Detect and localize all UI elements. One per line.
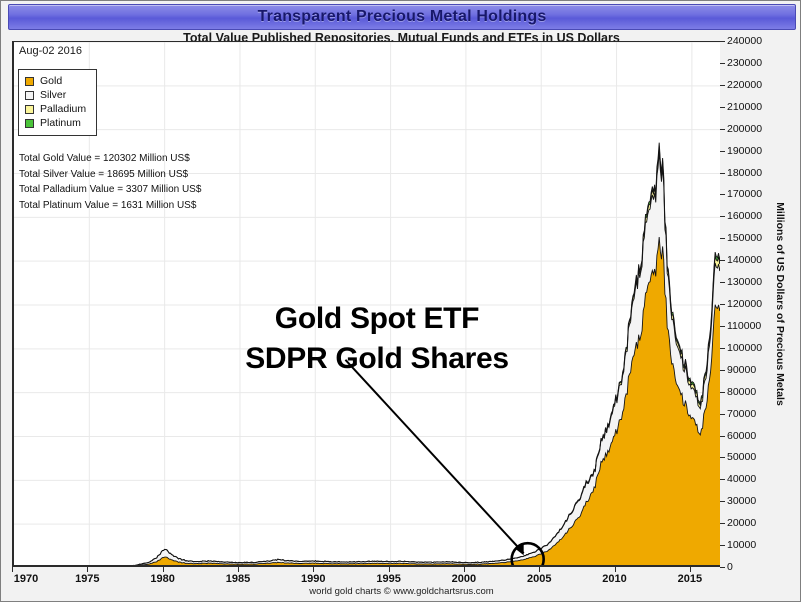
y-tick-label: 240000	[720, 35, 762, 47]
legend-item-silver: Silver	[25, 88, 86, 102]
y-tick-label: 20000	[720, 517, 756, 529]
y-tick-label: 200000	[720, 123, 762, 135]
x-tick-mark	[313, 567, 314, 572]
x-tick-label: 1995	[376, 573, 400, 585]
legend-item-label: Platinum	[40, 117, 81, 129]
y-tick-label: 70000	[720, 408, 756, 420]
total-value-line: Total Palladium Value = 3307 Million US$	[19, 182, 201, 198]
x-tick-label: 1975	[75, 573, 99, 585]
y-tick-label: 130000	[720, 276, 762, 288]
y-tick-label: 30000	[720, 495, 756, 507]
x-tick-mark	[238, 567, 239, 572]
total-value-line: Total Silver Value = 18695 Million US$	[19, 167, 201, 183]
legend-swatch-icon	[25, 91, 34, 100]
x-tick-label: 2000	[452, 573, 476, 585]
y-tick-label: 220000	[720, 79, 762, 91]
legend-item-label: Gold	[40, 75, 62, 87]
date-stamp: Aug-02 2016	[19, 45, 82, 57]
y-tick-label: 160000	[720, 210, 762, 222]
window-title: Transparent Precious Metal Holdings	[258, 8, 547, 26]
y-tick-label: 120000	[720, 298, 762, 310]
y-axis: 0100002000030000400005000060000700008000…	[720, 41, 768, 567]
legend-swatch-icon	[25, 77, 34, 86]
x-tick-mark	[539, 567, 540, 572]
y-tick-label: 80000	[720, 386, 756, 398]
x-tick-label: 2005	[527, 573, 551, 585]
y-tick-label: 10000	[720, 539, 756, 551]
x-tick-label: 1970	[14, 573, 38, 585]
y-tick-label: 110000	[720, 320, 761, 332]
y-tick-label: 230000	[720, 57, 762, 69]
plot-canvas	[14, 42, 720, 565]
x-tick-label: 1980	[150, 573, 174, 585]
y-tick-label: 50000	[720, 451, 756, 463]
y-tick-label: 0	[720, 561, 733, 573]
y-tick-label: 90000	[720, 364, 756, 376]
y-axis-title: Millions of US Dollars of Precious Metal…	[767, 41, 793, 567]
legend-item-label: Palladium	[40, 103, 86, 115]
y-tick-label: 190000	[720, 145, 762, 157]
y-tick-label: 210000	[720, 101, 762, 113]
x-tick-label: 1990	[301, 573, 325, 585]
y-tick-label: 100000	[720, 342, 762, 354]
y-tick-label: 140000	[720, 254, 762, 266]
x-tick-mark	[163, 567, 164, 572]
y-tick-label: 180000	[720, 167, 762, 179]
legend-swatch-icon	[25, 119, 34, 128]
total-value-line: Total Platinum Value = 1631 Million US$	[19, 198, 201, 214]
x-tick-mark	[389, 567, 390, 572]
legend-item-gold: Gold	[25, 74, 86, 88]
x-tick-mark	[690, 567, 691, 572]
y-tick-label: 150000	[720, 232, 762, 244]
y-tick-label: 40000	[720, 473, 756, 485]
x-tick-mark	[615, 567, 616, 572]
window-titlebar: Transparent Precious Metal Holdings	[8, 4, 796, 30]
y-tick-label: 170000	[720, 188, 762, 200]
chart-credit: world gold charts © www.goldchartsrus.co…	[1, 586, 801, 597]
total-value-line: Total Gold Value = 120302 Million US$	[19, 151, 201, 167]
plot-area	[12, 41, 720, 567]
y-tick-label: 60000	[720, 430, 756, 442]
x-tick-label: 2010	[602, 573, 626, 585]
x-axis: 1970197519801985199019952000200520102015	[12, 567, 720, 587]
chart-legend: GoldSilverPalladiumPlatinum	[18, 69, 97, 136]
legend-item-palladium: Palladium	[25, 102, 86, 116]
totals-block: Total Gold Value = 120302 Million US$Tot…	[19, 151, 201, 213]
y-axis-title-label: Millions of US Dollars of Precious Metal…	[774, 202, 786, 406]
legend-swatch-icon	[25, 105, 34, 114]
x-tick-mark	[87, 567, 88, 572]
x-tick-mark	[464, 567, 465, 572]
x-tick-label: 2015	[678, 573, 702, 585]
chart-window: Transparent Precious Metal Holdings Tota…	[0, 0, 801, 602]
annotation-arrow-layer	[14, 42, 720, 565]
legend-item-label: Silver	[40, 89, 66, 101]
x-tick-label: 1985	[226, 573, 250, 585]
legend-item-platinum: Platinum	[25, 116, 86, 130]
x-tick-mark	[12, 567, 13, 572]
